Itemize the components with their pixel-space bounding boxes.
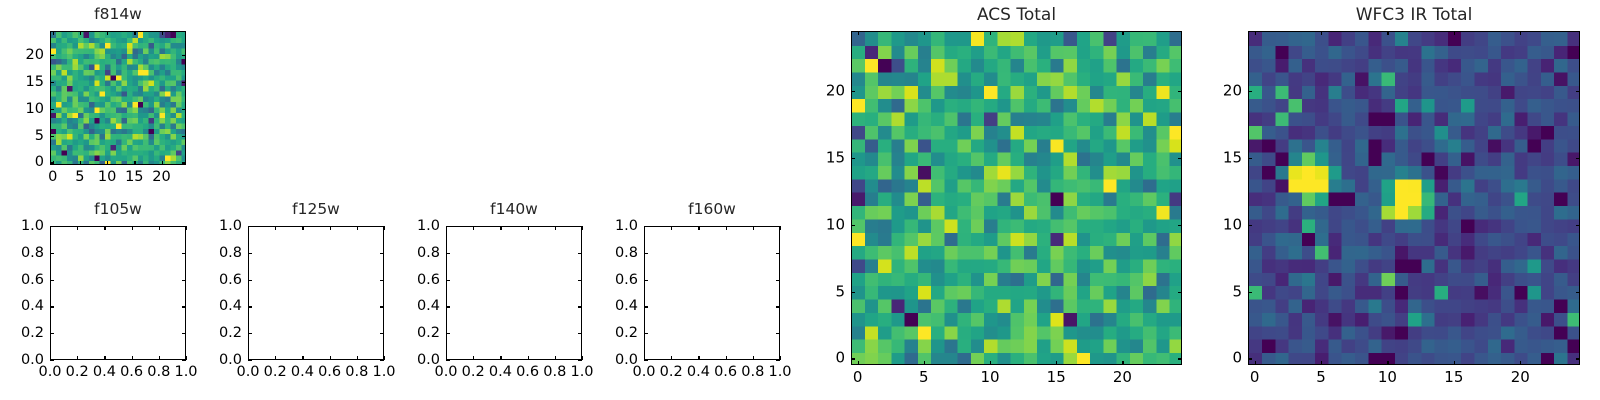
ytick-right-f160w-2 (776, 306, 780, 307)
panel-title-acs_total: ACS Total (977, 7, 1056, 24)
xtick-top-f814w-4 (162, 31, 163, 35)
xtick-top-f140w-3 (528, 226, 529, 230)
yticklabel-f160w-4: 0.8 (615, 246, 638, 261)
xtick-top-f814w-3 (134, 31, 135, 35)
ytick-right-f814w-3 (182, 82, 186, 83)
ytick-right-f105w-1 (182, 333, 186, 334)
heatmap-image-acs_total (852, 32, 1182, 365)
ytick-f814w-0 (50, 162, 54, 163)
xticklabel-wfc3_ir_total-2: 10 (1378, 370, 1397, 385)
figure-canvas: f814w0510152005101520f105w0.00.20.40.60.… (0, 0, 1600, 400)
ytick-right-f125w-1 (380, 333, 384, 334)
ytick-right-f140w-1 (578, 333, 582, 334)
xticklabel-f125w-4: 0.8 (345, 365, 368, 380)
panel-title-f140w: f140w (490, 202, 538, 218)
xtick-top-f125w-2 (302, 226, 303, 230)
xtick-top-acs_total-4 (1122, 31, 1123, 35)
xticklabel-acs_total-0: 0 (853, 370, 863, 385)
yticklabel-f814w-0: 0 (35, 155, 44, 170)
xticklabel-f140w-4: 0.8 (543, 365, 566, 380)
ytick-right-wfc3_ir_total-2 (1576, 225, 1580, 226)
panel-title-wfc3_ir_total: WFC3 IR Total (1356, 7, 1473, 24)
xtick-top-f140w-4 (555, 226, 556, 230)
ytick-right-f160w-3 (776, 280, 780, 281)
yticklabel-f814w-4: 20 (26, 48, 44, 63)
xtick-f160w-4 (753, 356, 754, 360)
ytick-f105w-4 (50, 253, 54, 254)
plot-frame-wfc3_ir_total (1248, 31, 1580, 365)
ytick-f125w-1 (248, 333, 252, 334)
ytick-f140w-5 (446, 226, 450, 227)
xtick-wfc3_ir_total-4 (1520, 361, 1521, 365)
xticklabel-f105w-5: 1.0 (174, 365, 197, 380)
yticklabel-f140w-0: 0.0 (417, 353, 440, 368)
xtick-f140w-4 (555, 356, 556, 360)
xtick-top-wfc3_ir_total-2 (1387, 31, 1388, 35)
yticklabel-acs_total-0: 0 (835, 351, 845, 366)
yticklabel-f140w-3: 0.6 (417, 272, 440, 287)
panel-f105w: f105w0.00.20.40.60.81.00.00.20.40.60.81.… (50, 226, 186, 360)
heatmap-image-f814w (51, 32, 186, 165)
plot-frame-f814w (50, 31, 186, 165)
xticklabel-acs_total-1: 5 (919, 370, 929, 385)
ytick-right-f105w-4 (182, 253, 186, 254)
yticklabel-f160w-2: 0.4 (615, 299, 638, 314)
xtick-top-f105w-5 (186, 226, 187, 230)
xtick-top-f160w-1 (671, 226, 672, 230)
yticklabel-f125w-1: 0.2 (219, 326, 242, 341)
xtick-top-wfc3_ir_total-1 (1321, 31, 1322, 35)
xtick-top-f105w-2 (104, 226, 105, 230)
plot-frame-acs_total (851, 31, 1182, 365)
xticklabel-f140w-2: 0.4 (489, 365, 512, 380)
ytick-wfc3_ir_total-1 (1248, 292, 1252, 293)
xticklabel-f140w-1: 0.2 (462, 365, 485, 380)
ytick-right-f160w-4 (776, 253, 780, 254)
yticklabel-f160w-5: 1.0 (615, 219, 638, 234)
xticklabel-f105w-4: 0.8 (147, 365, 170, 380)
yticklabel-wfc3_ir_total-4: 20 (1223, 84, 1242, 99)
ytick-right-f125w-2 (380, 306, 384, 307)
ytick-right-f160w-0 (776, 360, 780, 361)
ytick-acs_total-2 (851, 225, 855, 226)
xtick-top-f105w-4 (159, 226, 160, 230)
xtick-f140w-5 (582, 356, 583, 360)
ytick-wfc3_ir_total-4 (1248, 91, 1252, 92)
xtick-f105w-2 (104, 356, 105, 360)
xticklabel-f160w-4: 0.8 (741, 365, 764, 380)
ytick-right-f140w-3 (578, 280, 582, 281)
ytick-f105w-1 (50, 333, 54, 334)
xtick-top-f140w-2 (500, 226, 501, 230)
ytick-right-acs_total-0 (1178, 358, 1182, 359)
ytick-f814w-2 (50, 109, 54, 110)
yticklabel-f160w-3: 0.6 (615, 272, 638, 287)
xtick-top-f125w-4 (357, 226, 358, 230)
xticklabel-f160w-2: 0.4 (687, 365, 710, 380)
ytick-f105w-2 (50, 306, 54, 307)
xtick-acs_total-0 (858, 361, 859, 365)
xticklabel-f105w-2: 0.4 (93, 365, 116, 380)
ytick-wfc3_ir_total-2 (1248, 225, 1252, 226)
ytick-right-f814w-1 (182, 136, 186, 137)
xtick-top-f160w-4 (753, 226, 754, 230)
xticklabel-wfc3_ir_total-3: 15 (1444, 370, 1463, 385)
xticklabel-acs_total-3: 15 (1047, 370, 1066, 385)
xticklabel-wfc3_ir_total-0: 0 (1250, 370, 1260, 385)
yticklabel-f125w-4: 0.8 (219, 246, 242, 261)
ytick-f814w-3 (50, 82, 54, 83)
ytick-wfc3_ir_total-3 (1248, 158, 1252, 159)
xtick-top-f814w-2 (107, 31, 108, 35)
ytick-f140w-2 (446, 306, 450, 307)
yticklabel-wfc3_ir_total-0: 0 (1232, 351, 1242, 366)
xtick-top-wfc3_ir_total-0 (1255, 31, 1256, 35)
xticklabel-acs_total-4: 20 (1113, 370, 1132, 385)
yticklabel-f140w-2: 0.4 (417, 299, 440, 314)
yticklabel-f105w-0: 0.0 (21, 353, 44, 368)
xticklabel-wfc3_ir_total-1: 5 (1316, 370, 1326, 385)
xtick-f160w-5 (780, 356, 781, 360)
ytick-f140w-4 (446, 253, 450, 254)
ytick-right-wfc3_ir_total-4 (1576, 91, 1580, 92)
xtick-acs_total-1 (924, 361, 925, 365)
xtick-f105w-5 (186, 356, 187, 360)
ytick-right-f105w-5 (182, 226, 186, 227)
xtick-top-f125w-5 (384, 226, 385, 230)
panel-wfc3_ir_total: WFC3 IR Total0510152005101520 (1248, 31, 1580, 365)
ytick-right-f105w-2 (182, 306, 186, 307)
panel-f160w: f160w0.00.20.40.60.81.00.00.20.40.60.81.… (644, 226, 780, 360)
yticklabel-acs_total-2: 10 (826, 217, 845, 232)
xtick-top-f160w-5 (780, 226, 781, 230)
ytick-f160w-0 (644, 360, 648, 361)
yticklabel-f125w-2: 0.4 (219, 299, 242, 314)
ytick-f125w-2 (248, 306, 252, 307)
xticklabel-f105w-1: 0.2 (66, 365, 89, 380)
yticklabel-acs_total-3: 15 (826, 150, 845, 165)
ytick-f140w-0 (446, 360, 450, 361)
ytick-f125w-3 (248, 280, 252, 281)
yticklabel-f105w-5: 1.0 (21, 219, 44, 234)
xticklabel-f140w-3: 0.6 (516, 365, 539, 380)
ytick-f140w-1 (446, 333, 450, 334)
ytick-right-wfc3_ir_total-1 (1576, 292, 1580, 293)
xticklabel-f105w-3: 0.6 (120, 365, 143, 380)
panel-f125w: f125w0.00.20.40.60.81.00.00.20.40.60.81.… (248, 226, 384, 360)
xtick-top-f105w-1 (77, 226, 78, 230)
ytick-right-f140w-4 (578, 253, 582, 254)
ytick-right-acs_total-2 (1178, 225, 1182, 226)
xticklabel-f160w-5: 1.0 (768, 365, 791, 380)
yticklabel-f105w-2: 0.4 (21, 299, 44, 314)
xtick-top-wfc3_ir_total-4 (1520, 31, 1521, 35)
ytick-f105w-0 (50, 360, 54, 361)
ytick-right-acs_total-3 (1178, 158, 1182, 159)
yticklabel-f814w-3: 15 (26, 75, 44, 90)
panel-f140w: f140w0.00.20.40.60.81.00.00.20.40.60.81.… (446, 226, 582, 360)
xticklabel-acs_total-2: 10 (980, 370, 999, 385)
xtick-acs_total-2 (990, 361, 991, 365)
yticklabel-acs_total-4: 20 (826, 84, 845, 99)
xtick-f814w-4 (162, 161, 163, 165)
ytick-f160w-1 (644, 333, 648, 334)
yticklabel-f814w-2: 10 (26, 101, 44, 116)
xticklabel-f125w-1: 0.2 (264, 365, 287, 380)
xtick-acs_total-3 (1056, 361, 1057, 365)
heatmap-image-wfc3_ir_total (1249, 32, 1580, 365)
panel-f814w: f814w0510152005101520 (50, 31, 186, 165)
xtick-top-acs_total-2 (990, 31, 991, 35)
xticklabel-f814w-1: 5 (75, 170, 84, 185)
ytick-f105w-3 (50, 280, 54, 281)
ytick-right-f140w-5 (578, 226, 582, 227)
ytick-right-f140w-2 (578, 306, 582, 307)
xtick-top-f125w-3 (330, 226, 331, 230)
ytick-acs_total-1 (851, 292, 855, 293)
yticklabel-f105w-4: 0.8 (21, 246, 44, 261)
xtick-f105w-1 (77, 356, 78, 360)
xtick-f125w-2 (302, 356, 303, 360)
xtick-f140w-2 (500, 356, 501, 360)
ytick-acs_total-3 (851, 158, 855, 159)
ytick-right-f814w-0 (182, 162, 186, 163)
ytick-right-f105w-0 (182, 360, 186, 361)
panel-title-f125w: f125w (292, 202, 340, 218)
xtick-f160w-2 (698, 356, 699, 360)
xticklabel-f125w-5: 1.0 (372, 365, 395, 380)
xtick-f814w-3 (134, 161, 135, 165)
ytick-f105w-5 (50, 226, 54, 227)
xticklabel-f814w-3: 15 (125, 170, 143, 185)
xticklabel-f814w-4: 20 (152, 170, 170, 185)
ytick-right-f125w-3 (380, 280, 384, 281)
xtick-f160w-3 (726, 356, 727, 360)
ytick-f125w-4 (248, 253, 252, 254)
panel-title-f814w: f814w (94, 7, 142, 23)
xticklabel-f814w-0: 0 (48, 170, 57, 185)
plot-frame-f125w (248, 226, 384, 360)
xtick-top-f125w-1 (275, 226, 276, 230)
ytick-right-acs_total-4 (1178, 91, 1182, 92)
ytick-right-f125w-5 (380, 226, 384, 227)
ytick-f814w-1 (50, 136, 54, 137)
xtick-acs_total-4 (1122, 361, 1123, 365)
xtick-wfc3_ir_total-0 (1255, 361, 1256, 365)
xtick-top-f140w-5 (582, 226, 583, 230)
ytick-right-f160w-5 (776, 226, 780, 227)
xticklabel-f160w-3: 0.6 (714, 365, 737, 380)
xtick-f105w-4 (159, 356, 160, 360)
ytick-right-wfc3_ir_total-0 (1576, 358, 1580, 359)
yticklabel-wfc3_ir_total-3: 15 (1223, 150, 1242, 165)
ytick-right-f125w-4 (380, 253, 384, 254)
ytick-right-wfc3_ir_total-3 (1576, 158, 1580, 159)
yticklabel-f814w-1: 5 (35, 128, 44, 143)
xtick-f814w-1 (80, 161, 81, 165)
ytick-acs_total-0 (851, 358, 855, 359)
ytick-f140w-3 (446, 280, 450, 281)
xtick-wfc3_ir_total-3 (1454, 361, 1455, 365)
ytick-f160w-5 (644, 226, 648, 227)
ytick-right-f125w-0 (380, 360, 384, 361)
ytick-f160w-4 (644, 253, 648, 254)
ytick-right-f814w-4 (182, 55, 186, 56)
ytick-right-f140w-0 (578, 360, 582, 361)
ytick-f125w-0 (248, 360, 252, 361)
xticklabel-f125w-2: 0.4 (291, 365, 314, 380)
ytick-right-acs_total-1 (1178, 292, 1182, 293)
ytick-f814w-4 (50, 55, 54, 56)
xticklabel-f160w-1: 0.2 (660, 365, 683, 380)
xtick-top-acs_total-3 (1056, 31, 1057, 35)
xtick-f125w-3 (330, 356, 331, 360)
yticklabel-f125w-3: 0.6 (219, 272, 242, 287)
ytick-right-f105w-3 (182, 280, 186, 281)
yticklabel-f125w-0: 0.0 (219, 353, 242, 368)
xtick-top-acs_total-0 (858, 31, 859, 35)
yticklabel-f125w-5: 1.0 (219, 219, 242, 234)
ytick-f160w-3 (644, 280, 648, 281)
plot-frame-f160w (644, 226, 780, 360)
xtick-top-f814w-1 (80, 31, 81, 35)
xticklabel-f140w-5: 1.0 (570, 365, 593, 380)
ytick-f125w-5 (248, 226, 252, 227)
yticklabel-f105w-3: 0.6 (21, 272, 44, 287)
yticklabel-f160w-0: 0.0 (615, 353, 638, 368)
ytick-acs_total-4 (851, 91, 855, 92)
ytick-right-f160w-1 (776, 333, 780, 334)
plot-frame-f105w (50, 226, 186, 360)
xtick-top-f160w-3 (726, 226, 727, 230)
xtick-f814w-2 (107, 161, 108, 165)
xtick-top-f160w-2 (698, 226, 699, 230)
panel-acs_total: ACS Total0510152005101520 (851, 31, 1182, 365)
xtick-top-f814w-0 (53, 31, 54, 35)
plot-frame-f140w (446, 226, 582, 360)
xtick-f125w-4 (357, 356, 358, 360)
xtick-f140w-1 (473, 356, 474, 360)
ytick-f160w-2 (644, 306, 648, 307)
yticklabel-f140w-5: 1.0 (417, 219, 440, 234)
xtick-f105w-3 (132, 356, 133, 360)
xtick-f125w-1 (275, 356, 276, 360)
ytick-right-f814w-2 (182, 109, 186, 110)
xtick-wfc3_ir_total-1 (1321, 361, 1322, 365)
yticklabel-f140w-4: 0.8 (417, 246, 440, 261)
panel-title-f105w: f105w (94, 202, 142, 218)
xtick-top-acs_total-1 (924, 31, 925, 35)
xtick-wfc3_ir_total-2 (1387, 361, 1388, 365)
xtick-top-wfc3_ir_total-3 (1454, 31, 1455, 35)
xticklabel-wfc3_ir_total-4: 20 (1511, 370, 1530, 385)
xtick-top-f140w-1 (473, 226, 474, 230)
yticklabel-wfc3_ir_total-2: 10 (1223, 217, 1242, 232)
xticklabel-f814w-2: 10 (98, 170, 116, 185)
xtick-f160w-1 (671, 356, 672, 360)
xticklabel-f125w-3: 0.6 (318, 365, 341, 380)
yticklabel-f160w-1: 0.2 (615, 326, 638, 341)
yticklabel-acs_total-1: 5 (835, 284, 845, 299)
xtick-top-f105w-3 (132, 226, 133, 230)
ytick-wfc3_ir_total-0 (1248, 358, 1252, 359)
yticklabel-wfc3_ir_total-1: 5 (1232, 284, 1242, 299)
panel-title-f160w: f160w (688, 202, 736, 218)
yticklabel-f105w-1: 0.2 (21, 326, 44, 341)
xtick-f140w-3 (528, 356, 529, 360)
xtick-f125w-5 (384, 356, 385, 360)
yticklabel-f140w-1: 0.2 (417, 326, 440, 341)
